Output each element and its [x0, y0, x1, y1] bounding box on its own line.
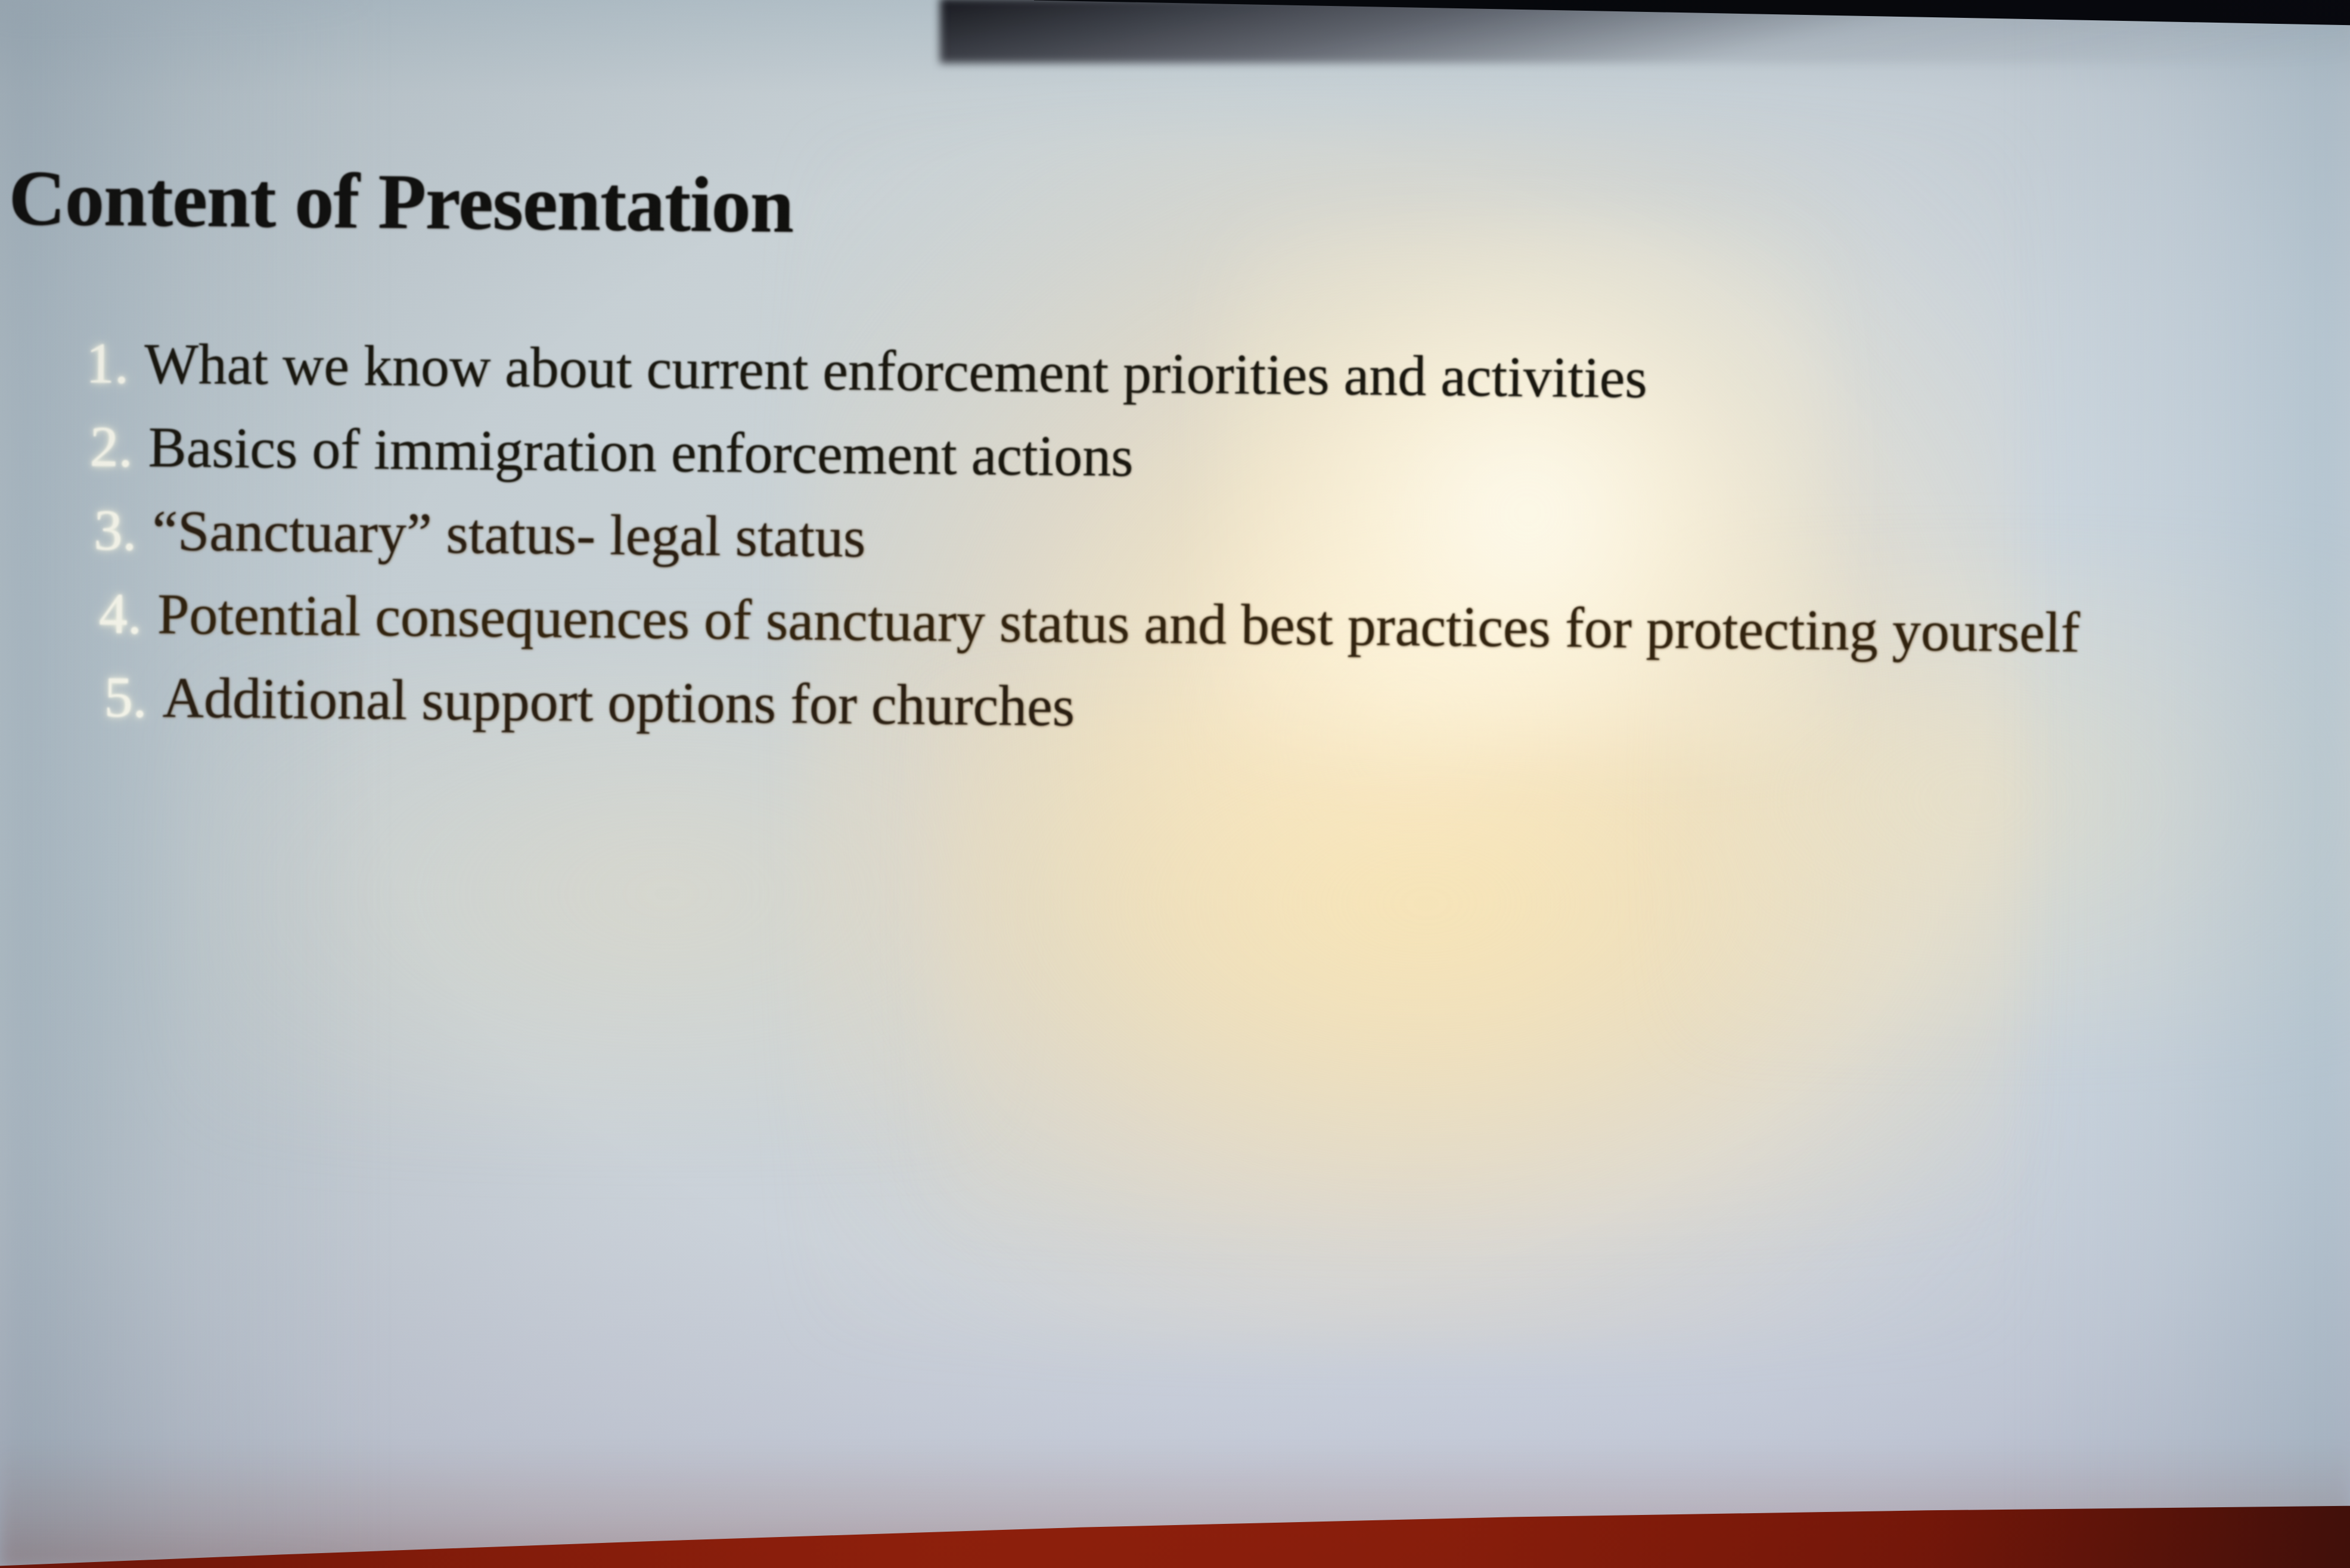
projected-slide-photo: Content of Presentation 1.What we know a…: [0, 0, 2350, 1568]
list-item-label: Basics of immigration enforcement action…: [148, 418, 1134, 485]
list-item-number: 1.: [86, 334, 129, 392]
list-item-number: 3.: [94, 502, 137, 560]
list-item-number: 4.: [99, 585, 142, 643]
presentation-contents-list: 1.What we know about current enforcement…: [0, 334, 2346, 774]
list-item-number: 2.: [89, 418, 133, 476]
page-title: Content of Presentation: [8, 152, 794, 251]
list-item-label: Additional support options for churches: [162, 669, 1075, 735]
list-item-label: What we know about current enforcement p…: [144, 335, 1648, 406]
slide-content-area: Content of Presentation 1.What we know a…: [0, 0, 2350, 1568]
list-item-label: “Sanctuary” status- legal status: [152, 502, 866, 566]
list-item-number: 5.: [104, 669, 147, 726]
